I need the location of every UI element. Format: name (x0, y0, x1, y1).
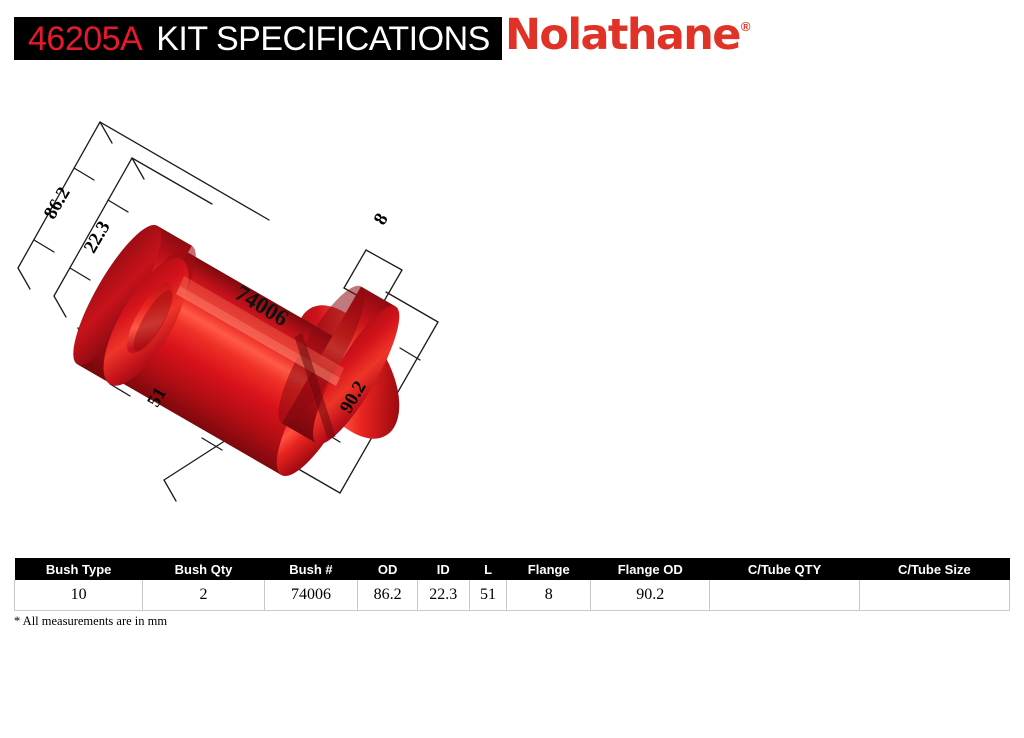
page-title: KIT SPECIFICATIONS (156, 22, 490, 56)
brand-wordmark: Nolathane (505, 14, 740, 57)
column-header-id: ID (417, 558, 469, 580)
bushing-illustration: 86.2 22.3 8 90.2 51 74006 (14, 100, 474, 510)
cell-flange-od: 90.2 (591, 580, 710, 611)
cell-flange: 8 (507, 580, 591, 611)
bushing-body (59, 215, 420, 486)
title-plate: 46205A KIT SPECIFICATIONS (14, 17, 502, 60)
column-header-length: L (469, 558, 507, 580)
cell-bush-type: 10 (15, 580, 143, 611)
column-header-bush-type: Bush Type (15, 558, 143, 580)
column-header-ctube-qty: C/Tube QTY (710, 558, 859, 580)
nolathane-logo: Nolathane ® (505, 14, 750, 57)
registered-trademark-icon: ® (741, 20, 751, 33)
column-header-flange: Flange (507, 558, 591, 580)
specifications-table-container: Bush Type Bush Qty Bush # OD ID L Flange… (14, 558, 1010, 611)
measurements-footnote: * All measurements are in mm (14, 614, 167, 629)
dimension-label-flange: 8 (370, 210, 393, 229)
kit-code: 46205A (28, 22, 142, 56)
column-header-bush-number: Bush # (264, 558, 358, 580)
cell-id: 22.3 (417, 580, 469, 611)
table-row: 10 2 74006 86.2 22.3 51 8 90.2 (15, 580, 1010, 611)
page-header: 46205A KIT SPECIFICATIONS (14, 17, 502, 60)
cell-od: 86.2 (358, 580, 418, 611)
cell-bush-qty: 2 (143, 580, 264, 611)
table-header-row: Bush Type Bush Qty Bush # OD ID L Flange… (15, 558, 1010, 580)
dimension-label-id: 22.3 (80, 218, 115, 257)
specifications-table: Bush Type Bush Qty Bush # OD ID L Flange… (14, 558, 1010, 611)
cell-ctube-size (859, 580, 1009, 611)
column-header-ctube-size: C/Tube Size (859, 558, 1009, 580)
column-header-bush-qty: Bush Qty (143, 558, 264, 580)
column-header-od: OD (358, 558, 418, 580)
dimension-label-od: 86.2 (40, 184, 75, 223)
cell-bush-number: 74006 (264, 580, 358, 611)
column-header-flange-od: Flange OD (591, 558, 710, 580)
cell-length: 51 (469, 580, 507, 611)
cell-ctube-qty (710, 580, 859, 611)
